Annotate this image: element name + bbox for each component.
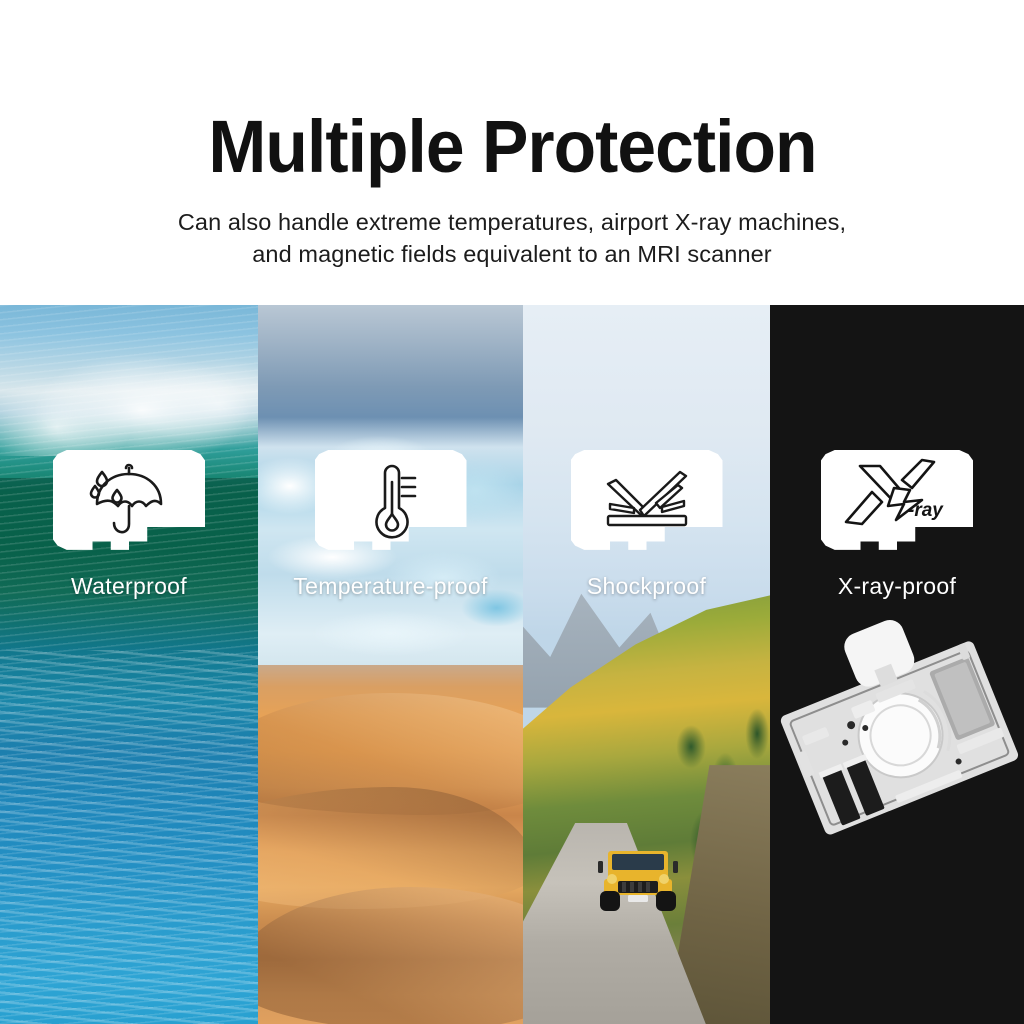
dune-ridge-lower bbox=[258, 887, 523, 1024]
x-ray-icon: -ray bbox=[838, 458, 956, 532]
xray-device-image bbox=[776, 605, 1020, 870]
panel-label-shockproof: Shockproof bbox=[523, 573, 770, 600]
yellow-jeep bbox=[592, 837, 684, 913]
page-subtitle: Can also handle extreme temperatures, ai… bbox=[178, 206, 846, 271]
subtitle-line-1: Can also handle extreme temperatures, ai… bbox=[178, 206, 846, 238]
microsd-card-badge-xray[interactable]: -ray bbox=[821, 450, 973, 554]
header-section: Multiple Protection Can also handle extr… bbox=[0, 0, 1024, 305]
panel-waterproof[interactable]: Waterproof bbox=[0, 305, 258, 1024]
feature-panel-strip: Waterproof Temperature-proof bbox=[0, 305, 1024, 1024]
panel-label-temperature-proof: Temperature-proof bbox=[258, 573, 523, 600]
panel-label-x-ray-proof: X-ray-proof bbox=[770, 573, 1024, 600]
desert-dunes-background bbox=[258, 665, 523, 1024]
page-title: Multiple Protection bbox=[208, 110, 816, 184]
water-ripples-lower bbox=[0, 650, 258, 1024]
panel-temperature-proof[interactable]: Temperature-proof bbox=[258, 305, 523, 1024]
panel-label-waterproof: Waterproof bbox=[0, 573, 258, 600]
subtitle-line-2: and magnetic fields equivalent to an MRI… bbox=[178, 238, 846, 270]
panel-x-ray-proof[interactable]: -ray X-ray-proof bbox=[770, 305, 1024, 1024]
x-ray-icon-text: -ray bbox=[908, 500, 944, 521]
impact-shock-icon bbox=[594, 458, 700, 538]
panel-shockproof[interactable]: Shockproof bbox=[523, 305, 770, 1024]
